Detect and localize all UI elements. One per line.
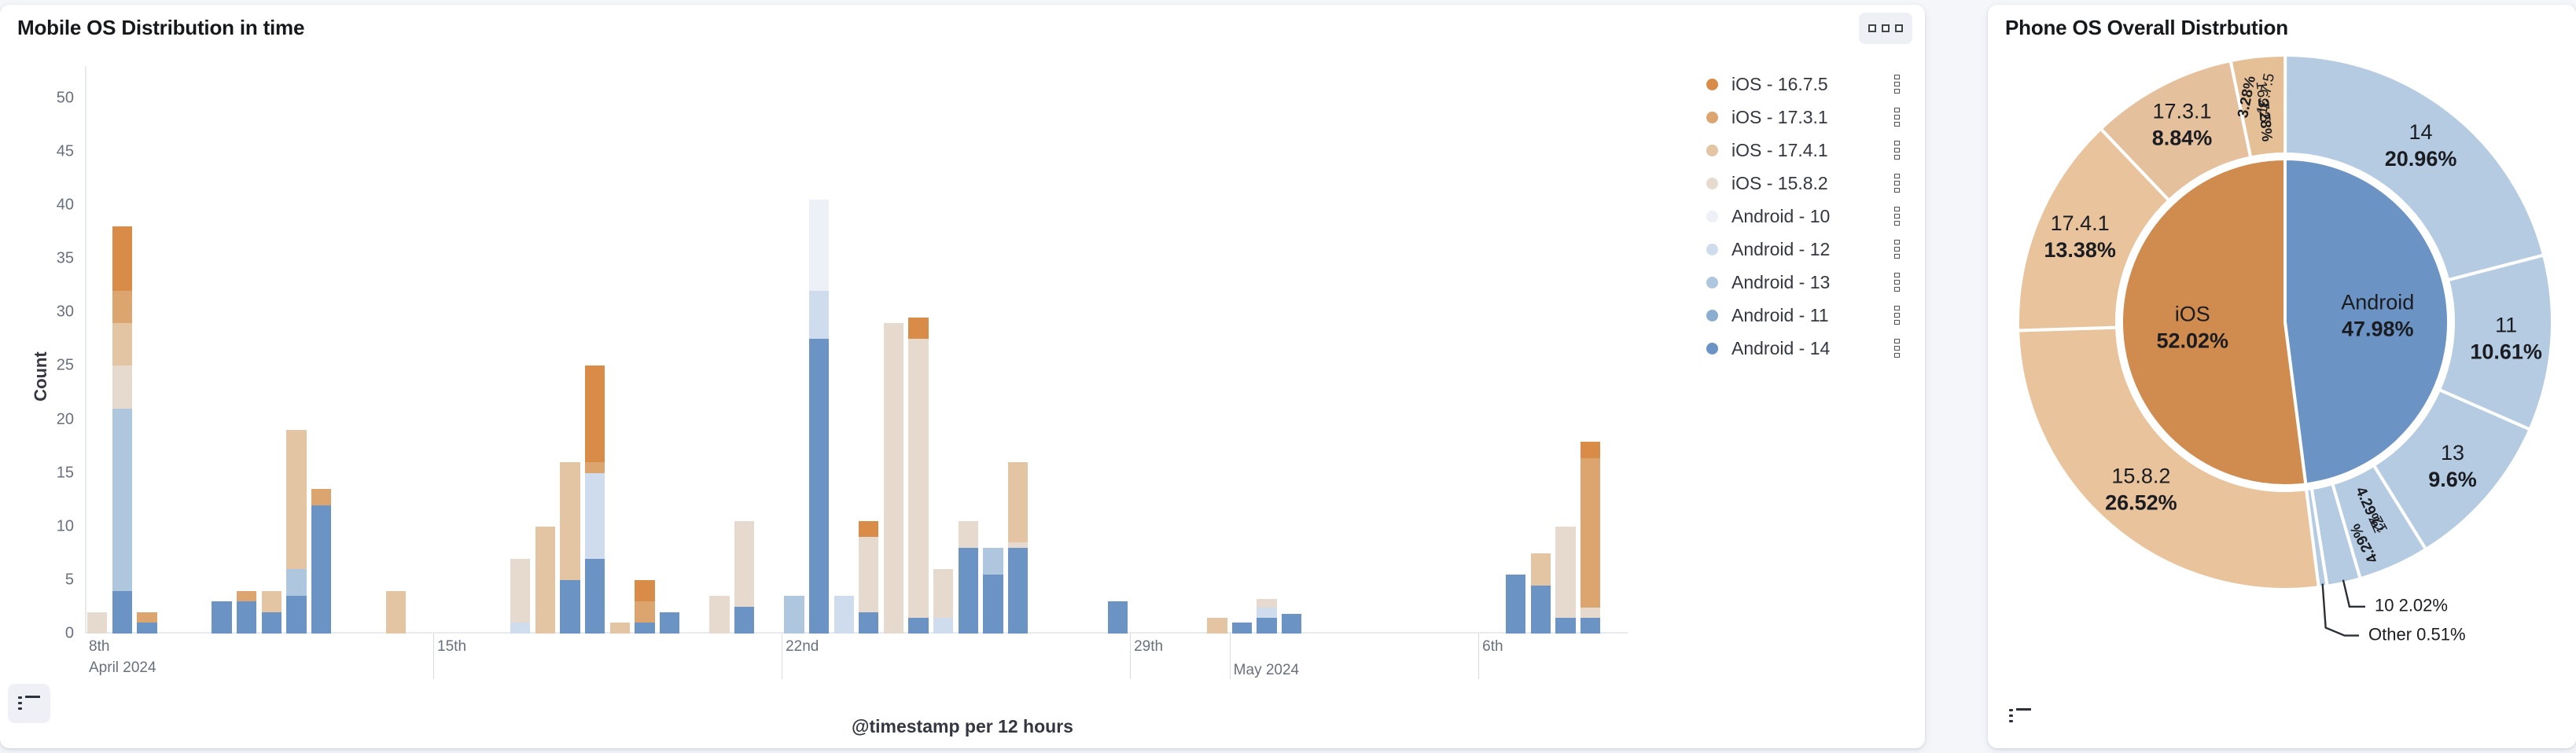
legend-color-dot xyxy=(1706,211,1718,222)
bar-segment[interactable] xyxy=(959,548,978,634)
bar-segment[interactable] xyxy=(610,623,630,634)
bar-segment[interactable] xyxy=(585,559,605,634)
x-axis-tick-mark xyxy=(1478,634,1479,679)
legend-color-dot xyxy=(1706,79,1718,90)
grid-menu-dot xyxy=(1895,24,1903,32)
bar-stack[interactable] xyxy=(311,489,331,634)
sunburst-slice-label: 8.84% xyxy=(2152,126,2213,149)
bar-segment[interactable] xyxy=(635,580,654,601)
bar-stack[interactable] xyxy=(87,612,107,634)
x-tick-line2: April 2024 xyxy=(89,659,156,677)
bar-segment[interactable] xyxy=(1257,618,1276,634)
bar-segment[interactable] xyxy=(933,618,953,634)
bar-segment[interactable] xyxy=(386,591,406,634)
bar-stack[interactable] xyxy=(1008,462,1028,634)
x-tick-line1: 22nd xyxy=(786,638,819,656)
bar-segment[interactable] xyxy=(535,527,555,634)
bar-segment[interactable] xyxy=(137,612,156,623)
bar-segment[interactable] xyxy=(585,365,605,462)
sunburst-slice-label: 13.38% xyxy=(2044,238,2116,262)
bar-stack[interactable] xyxy=(1581,442,1600,634)
bar-segment[interactable] xyxy=(1008,462,1028,542)
sunburst-slice-label: Android xyxy=(2341,291,2414,314)
x-axis-tick-mark xyxy=(433,634,434,679)
bar-segment[interactable] xyxy=(286,569,306,596)
bar-segment[interactable] xyxy=(311,489,331,505)
bar-stack[interactable] xyxy=(809,200,829,634)
legend-item-label: iOS - 17.3.1 xyxy=(1731,107,1828,128)
bar-segment[interactable] xyxy=(983,575,1003,634)
bar-segment[interactable] xyxy=(1581,618,1600,634)
sunburst-svg: Android47.98%iOS52.02%1420.96%1110.61%13… xyxy=(1993,46,2574,698)
x-axis-tick-mark xyxy=(1230,634,1231,679)
bar-segment[interactable] xyxy=(112,409,132,591)
chart-legend: iOS - 16.7.5iOS - 17.3.1iOS - 17.4.1iOS … xyxy=(1706,68,1903,365)
legend-item-4[interactable]: Android - 10 xyxy=(1706,200,1903,233)
legend-options-icon[interactable] xyxy=(1894,240,1901,259)
bar-segment[interactable] xyxy=(1282,614,1301,634)
bar-stack[interactable] xyxy=(959,521,978,634)
legend-options-icon[interactable] xyxy=(1894,207,1901,226)
legend-item-label: Android - 11 xyxy=(1731,305,1829,326)
sunburst-slice-label: 47.98% xyxy=(2342,318,2414,341)
legend-color-dot xyxy=(1706,112,1718,123)
legend-options-icon[interactable] xyxy=(1894,174,1901,193)
bar-stack[interactable] xyxy=(535,527,555,634)
sunburst-slice-label: 13 xyxy=(2441,441,2464,465)
bar-segment[interactable] xyxy=(262,612,282,634)
bar-segment[interactable] xyxy=(1506,575,1525,634)
bar-segment[interactable] xyxy=(1555,527,1575,618)
x-axis-tick-mark xyxy=(1130,634,1131,679)
bar-stack[interactable] xyxy=(137,612,156,634)
grid-menu-dot xyxy=(1882,24,1890,32)
legend-item-8[interactable]: Android - 14 xyxy=(1706,332,1903,365)
legend-options-icon[interactable] xyxy=(1894,273,1901,292)
x-axis-tick-label: 22nd xyxy=(786,638,819,656)
bar-segment[interactable] xyxy=(784,596,804,634)
bar-stack[interactable] xyxy=(635,580,654,634)
legend-item-2[interactable]: iOS - 17.4.1 xyxy=(1706,134,1903,167)
y-axis-line xyxy=(85,66,86,634)
sunburst-slice-label: 11 xyxy=(2495,314,2517,337)
sunburst-callout-other: Other 0.51% xyxy=(2368,624,2466,644)
panel-phone-os-overall: Phone OS Overall Distrbution Android47.9… xyxy=(1988,5,2576,748)
dashboard-root: Mobile OS Distribution in time 051015202… xyxy=(0,0,2576,753)
legend-item-1[interactable]: iOS - 17.3.1 xyxy=(1706,101,1903,134)
x-tick-line1: 8th xyxy=(89,638,156,656)
legend-item-label: Android - 14 xyxy=(1731,338,1830,359)
y-axis-tick-label: 20 xyxy=(57,410,74,428)
bar-stack[interactable] xyxy=(784,596,804,634)
bar-segment[interactable] xyxy=(510,623,530,634)
legend-item-label: Android - 10 xyxy=(1731,206,1830,227)
bar-stack[interactable] xyxy=(237,591,256,634)
bar-segment[interactable] xyxy=(1232,623,1252,634)
sunburst-slice-label: 9.6% xyxy=(2428,468,2477,491)
bar-stack[interactable] xyxy=(610,623,630,634)
legend-item-0[interactable]: iOS - 16.7.5 xyxy=(1706,68,1903,101)
bar-segment[interactable] xyxy=(933,569,953,617)
legend-item-5[interactable]: Android - 12 xyxy=(1706,233,1903,266)
bar-stack[interactable] xyxy=(112,226,132,634)
bar-segment[interactable] xyxy=(983,548,1003,575)
legend-color-dot xyxy=(1706,310,1718,321)
bar-segment[interactable] xyxy=(212,601,231,634)
legend-item-label: iOS - 17.4.1 xyxy=(1731,140,1828,161)
bar-stack[interactable] xyxy=(734,521,754,634)
bar-segment[interactable] xyxy=(311,505,331,634)
bar-segment[interactable] xyxy=(1207,618,1227,634)
x-axis-title: @timestamp per 12 hours xyxy=(0,716,1925,737)
legend-color-dot xyxy=(1706,145,1718,156)
legend-item-7[interactable]: Android - 11 xyxy=(1706,299,1903,332)
legend-options-icon[interactable] xyxy=(1894,339,1901,358)
bar-stack[interactable] xyxy=(386,591,406,634)
bar-segment[interactable] xyxy=(1008,542,1028,548)
legend-options-icon[interactable] xyxy=(1894,75,1901,94)
bar-stack[interactable] xyxy=(859,521,878,634)
bar-segment[interactable] xyxy=(510,559,530,623)
legend-options-icon[interactable] xyxy=(1894,306,1901,325)
list-icon-glyph xyxy=(18,696,40,711)
bar-segment[interactable] xyxy=(734,607,754,634)
bar-chart-plot-area: 05101520253035404550 8thApril 202415th22… xyxy=(85,66,1628,634)
sunburst-chart: Android47.98%iOS52.02%1420.96%1110.61%13… xyxy=(1993,46,2574,698)
bar-stack[interactable] xyxy=(983,548,1003,634)
bar-segment[interactable] xyxy=(1581,442,1600,457)
bar-stack[interactable] xyxy=(1531,553,1551,634)
sunburst-slice-label: 26.52% xyxy=(2105,491,2177,515)
sunburst-slice-label: 14 xyxy=(2409,120,2433,144)
legend-color-dot xyxy=(1706,343,1718,354)
bar-stack[interactable] xyxy=(1108,601,1128,634)
sunburst-slice-label: 17.3.1 xyxy=(2152,99,2211,123)
bar-segment[interactable] xyxy=(884,323,903,634)
x-tick-line1: 29th xyxy=(1134,638,1163,656)
bar-segment[interactable] xyxy=(112,591,132,634)
sunburst-slice-label: 17.4.1 xyxy=(2051,211,2110,235)
bar-segment[interactable] xyxy=(834,596,854,634)
bar-stack[interactable] xyxy=(560,462,580,634)
bar-segment[interactable] xyxy=(908,618,928,634)
grid-menu-icon[interactable] xyxy=(1859,13,1912,44)
x-axis-tick-mark xyxy=(782,634,782,679)
bar-segment[interactable] xyxy=(237,591,256,602)
sunburst-callout-10: 10 2.02% xyxy=(2375,596,2448,615)
bar-segment[interactable] xyxy=(237,601,256,634)
bar-segment[interactable] xyxy=(1581,458,1600,608)
bar-segment[interactable] xyxy=(908,318,928,339)
bar-stack[interactable] xyxy=(510,559,530,634)
x-tick-line2: May 2024 xyxy=(1234,662,1299,679)
bar-segment[interactable] xyxy=(709,596,729,634)
list-icon[interactable] xyxy=(1999,696,2041,736)
bar-stack[interactable] xyxy=(1257,599,1276,634)
bar-stack[interactable] xyxy=(1282,614,1301,634)
y-axis-tick-label: 25 xyxy=(57,357,74,375)
y-axis-tick-label: 30 xyxy=(57,303,74,321)
bar-stack[interactable] xyxy=(1207,618,1227,634)
legend-color-dot xyxy=(1706,277,1718,288)
legend-item-label: Android - 12 xyxy=(1731,239,1830,260)
bar-segment[interactable] xyxy=(112,226,132,291)
grid-menu-dot xyxy=(1868,24,1876,32)
legend-item-label: iOS - 15.8.2 xyxy=(1731,173,1828,194)
sunburst-slice-label: 20.96% xyxy=(2385,147,2457,171)
bar-stack[interactable] xyxy=(1555,527,1575,634)
bar-segment[interactable] xyxy=(635,623,654,634)
bar-stack[interactable] xyxy=(262,591,282,634)
panel-mobile-os-in-time: Mobile OS Distribution in time 051015202… xyxy=(0,5,1925,748)
bar-segment[interactable] xyxy=(1108,601,1128,634)
bar-segment[interactable] xyxy=(1531,586,1551,634)
bar-stack[interactable] xyxy=(709,596,729,634)
y-axis-tick-label: 35 xyxy=(57,250,74,268)
bar-segment[interactable] xyxy=(859,612,878,634)
bar-stack[interactable] xyxy=(660,612,679,634)
page-title-right: Phone OS Overall Distrbution xyxy=(2005,16,2288,40)
bar-segment[interactable] xyxy=(1257,599,1276,608)
legend-item-3[interactable]: iOS - 15.8.2 xyxy=(1706,167,1903,200)
bar-segment[interactable] xyxy=(660,612,679,634)
legend-color-dot xyxy=(1706,178,1718,189)
bar-segment[interactable] xyxy=(1555,618,1575,634)
legend-item-6[interactable]: Android - 13 xyxy=(1706,266,1903,299)
bar-segment[interactable] xyxy=(585,473,605,559)
bar-stack[interactable] xyxy=(884,323,903,634)
legend-options-icon[interactable] xyxy=(1894,108,1901,127)
y-axis-title: Count xyxy=(31,351,51,402)
x-axis-tick-label: May 2024 xyxy=(1234,638,1299,679)
bar-segment[interactable] xyxy=(87,612,107,634)
bar-segment[interactable] xyxy=(1257,608,1276,617)
bar-segment[interactable] xyxy=(286,430,306,569)
bar-segment[interactable] xyxy=(908,339,928,617)
bar-segment[interactable] xyxy=(1581,608,1600,617)
y-axis-tick-label: 15 xyxy=(57,464,74,482)
bar-segment[interactable] xyxy=(859,521,878,537)
bar-segment[interactable] xyxy=(809,200,829,291)
bar-segment[interactable] xyxy=(112,365,132,408)
x-axis-tick-label: 15th xyxy=(437,638,466,656)
bar-segment[interactable] xyxy=(112,323,132,365)
bar-stack[interactable] xyxy=(1232,623,1252,634)
bar-segment[interactable] xyxy=(112,291,132,323)
bar-segment[interactable] xyxy=(859,537,878,612)
x-axis-tick-label: 6th xyxy=(1482,638,1503,656)
x-axis-tick-label: 8thApril 2024 xyxy=(89,638,156,677)
bar-segment[interactable] xyxy=(286,596,306,634)
bar-stack[interactable] xyxy=(212,601,231,634)
y-axis-tick-label: 0 xyxy=(65,625,74,643)
bar-stack[interactable] xyxy=(286,430,306,634)
y-axis-tick-label: 5 xyxy=(65,571,74,589)
bar-segment[interactable] xyxy=(585,462,605,473)
bar-segment[interactable] xyxy=(1531,553,1551,586)
bar-segment[interactable] xyxy=(1008,548,1028,634)
sunburst-slice-label: iOS xyxy=(2175,303,2210,326)
y-axis-tick-label: 40 xyxy=(57,197,74,215)
list-icon-glyph xyxy=(2009,708,2031,724)
bar-stack[interactable] xyxy=(834,596,854,634)
bar-segment[interactable] xyxy=(959,521,978,548)
bar-segment[interactable] xyxy=(262,591,282,612)
sunburst-slice-label: 52.02% xyxy=(2156,329,2228,353)
legend-options-icon[interactable] xyxy=(1894,141,1901,160)
legend-item-label: Android - 13 xyxy=(1731,272,1830,293)
y-axis-tick-label: 50 xyxy=(57,89,74,107)
bar-segment[interactable] xyxy=(809,339,829,634)
bar-segment[interactable] xyxy=(560,580,580,634)
sunburst-leader-line-other xyxy=(2323,584,2359,636)
bar-segment[interactable] xyxy=(560,462,580,580)
page-title-left: Mobile OS Distribution in time xyxy=(17,16,304,40)
y-axis-tick-label: 10 xyxy=(57,517,74,535)
y-axis-tick-label: 45 xyxy=(57,142,74,160)
sunburst-slice-label: 10.61% xyxy=(2470,340,2542,364)
bar-segment[interactable] xyxy=(809,291,829,339)
bar-stack[interactable] xyxy=(585,365,605,634)
x-tick-line1: 15th xyxy=(437,638,466,656)
bar-segment[interactable] xyxy=(137,623,156,634)
x-axis-tick-label: 29th xyxy=(1134,638,1163,656)
bar-segment[interactable] xyxy=(635,601,654,623)
bar-stack[interactable] xyxy=(908,318,928,634)
sunburst-slice-label: 15.8.2 xyxy=(2111,465,2170,488)
legend-item-label: iOS - 16.7.5 xyxy=(1731,74,1828,95)
x-tick-line1: 6th xyxy=(1482,638,1503,656)
bar-stack[interactable] xyxy=(1506,575,1525,634)
list-icon[interactable] xyxy=(8,684,50,723)
bar-stack[interactable] xyxy=(933,569,953,634)
legend-color-dot xyxy=(1706,244,1718,255)
bar-segment[interactable] xyxy=(734,521,754,607)
